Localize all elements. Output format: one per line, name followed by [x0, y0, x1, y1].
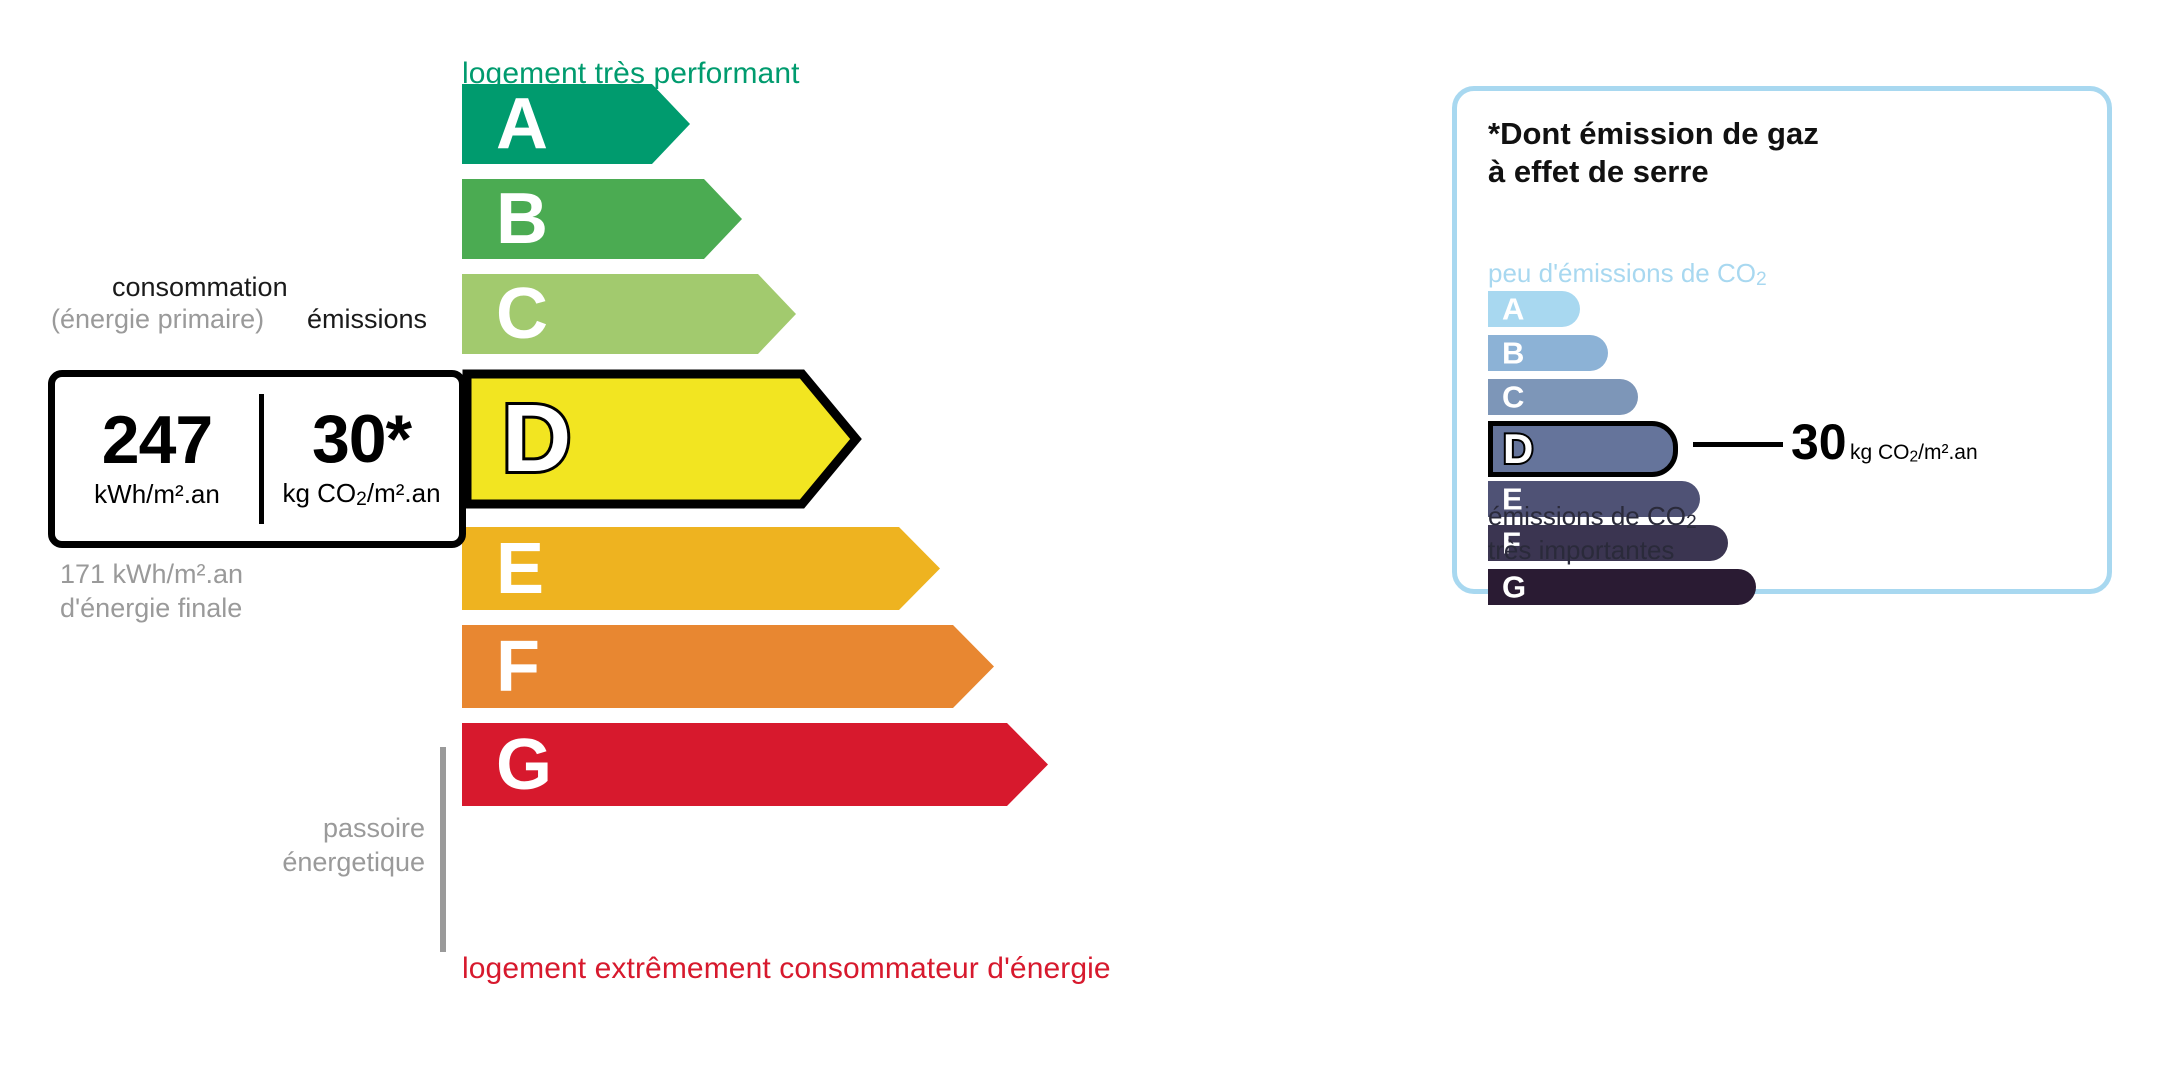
energy-bar-d-letter: D — [502, 391, 571, 487]
final-energy-note: 171 kWh/m².an d'énergie finale — [60, 558, 243, 626]
energy-bars: A B C D — [462, 84, 1302, 934]
co2-bottom-caption: émissions de CO2 très importantes — [1488, 501, 1697, 566]
energy-bar-f[interactable]: F — [462, 625, 996, 708]
co2-bottom-caption-line1: émissions de CO — [1488, 501, 1686, 531]
poor-performance-bracket — [440, 747, 446, 952]
poor-performance-label-line2: énergetique — [282, 847, 425, 877]
co2-top-caption-text: peu d'émissions de CO — [1488, 258, 1756, 288]
co2-bar-g-letter: G — [1502, 572, 1526, 603]
co2-bar-c-letter: C — [1502, 382, 1524, 413]
energy-bottom-caption: logement extrêmement consommateur d'éner… — [462, 952, 1111, 986]
emissions-unit: kg CO2/m².an — [282, 478, 440, 511]
emissions-unit-subscript: 2 — [356, 489, 367, 510]
co2-value-leader-line — [1693, 442, 1783, 447]
dpe-energy-label: logement très performant A B — [0, 0, 2169, 1079]
energy-bar-g-letter: G — [496, 729, 552, 801]
energy-bar-g[interactable]: G — [462, 723, 1050, 806]
final-energy-value: 171 kWh/m².an — [60, 559, 243, 589]
energy-scale-panel: logement très performant A B — [0, 0, 1400, 1079]
co2-title-line1: *Dont émission de gaz — [1488, 116, 1819, 151]
co2-top-caption-subscript: 2 — [1756, 269, 1767, 290]
co2-bar-a[interactable]: A — [1488, 291, 1580, 327]
consumption-label: consommation — [112, 272, 288, 303]
emissions-cell: 30* kg CO2/m².an — [264, 377, 459, 541]
energy-bar-c-letter: C — [496, 278, 548, 350]
energy-bar-e[interactable]: E — [462, 527, 942, 610]
energy-bar-a-letter: A — [496, 88, 548, 160]
co2-bar-b[interactable]: B — [1488, 335, 1608, 371]
co2-bar-d-letter: D — [1503, 428, 1533, 470]
co2-value-unit: kg CO2/m².an — [1850, 441, 1978, 466]
co2-unit-subscript: 2 — [1910, 448, 1919, 465]
co2-bar-d-selected[interactable]: D — [1488, 421, 1678, 477]
emissions-label: émissions — [307, 304, 427, 335]
emissions-value: 30* — [312, 407, 411, 472]
consumption-sub-label: (énergie primaire) — [51, 304, 264, 335]
co2-bar-b-letter: B — [1502, 338, 1524, 369]
consumption-value: 247 — [102, 408, 212, 473]
energy-bar-b[interactable]: B — [462, 179, 744, 259]
co2-value: 30 — [1791, 417, 1847, 467]
co2-bar-g[interactable]: G — [1488, 569, 1756, 605]
poor-performance-label-line1: passoire — [323, 813, 425, 843]
readout-box: 247 kWh/m².an 30* kg CO2/m².an — [48, 370, 466, 548]
co2-unit-suffix: /m².an — [1918, 441, 1978, 464]
energy-bar-d-selected[interactable]: D — [462, 369, 864, 509]
co2-unit-prefix: kg CO — [1850, 441, 1910, 464]
co2-bar-a-letter: A — [1502, 294, 1524, 325]
poor-performance-label: passoire énergetique — [250, 812, 425, 880]
energy-bar-a[interactable]: A — [462, 84, 692, 164]
co2-title-line2: à effet de serre — [1488, 154, 1709, 189]
emissions-unit-suffix: /m².an — [367, 478, 441, 508]
energy-bar-b-letter: B — [496, 183, 548, 255]
energy-bar-f-letter: F — [496, 631, 540, 703]
co2-bar-c[interactable]: C — [1488, 379, 1638, 415]
consumption-unit: kWh/m².an — [94, 479, 220, 510]
co2-panel: *Dont émission de gaz à effet de serre p… — [1452, 86, 2112, 594]
co2-top-caption: peu d'émissions de CO2 — [1488, 258, 1767, 291]
energy-bar-c[interactable]: C — [462, 274, 798, 354]
co2-bottom-caption-line2: très importantes — [1488, 535, 1674, 565]
co2-panel-title: *Dont émission de gaz à effet de serre — [1488, 115, 1819, 191]
energy-bar-e-letter: E — [496, 533, 544, 605]
final-energy-caption: d'énergie finale — [60, 593, 242, 623]
co2-bottom-caption-subscript: 2 — [1686, 512, 1697, 533]
emissions-unit-prefix: kg CO — [282, 478, 356, 508]
consumption-cell: 247 kWh/m².an — [55, 377, 259, 541]
